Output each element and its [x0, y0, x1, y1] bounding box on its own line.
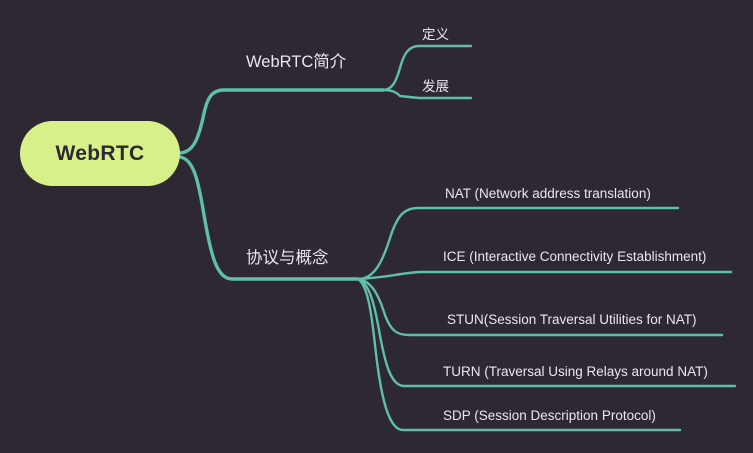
branch-label-protocols[interactable]: 协议与概念 — [246, 244, 329, 268]
leaf-label-turn[interactable]: TURN (Traversal Using Relays around NAT) — [443, 364, 708, 379]
connector-layer — [0, 0, 753, 453]
root-node-label: WebRTC — [56, 142, 145, 166]
mindmap-canvas: WebRTC WebRTC简介 协议与概念 定义 发展 NAT (Network… — [0, 0, 753, 453]
connector-root-to-intro — [180, 90, 383, 153]
leaf-label-sdp[interactable]: SDP (Session Description Protocol) — [443, 408, 656, 423]
leaf-label-nat[interactable]: NAT (Network address translation) — [445, 186, 651, 201]
leaf-label-ice[interactable]: ICE (Interactive Connectivity Establishm… — [443, 249, 706, 264]
branch-label-intro[interactable]: WebRTC简介 — [246, 48, 346, 72]
connector-protocols-to-ice — [358, 272, 731, 279]
root-node[interactable]: WebRTC — [20, 121, 180, 186]
connector-protocols-to-nat — [358, 208, 678, 279]
leaf-label-stun[interactable]: STUN(Session Traversal Utilities for NAT… — [447, 312, 697, 327]
leaf-label-development[interactable]: 发展 — [422, 75, 449, 95]
leaf-label-definition[interactable]: 定义 — [422, 23, 449, 43]
